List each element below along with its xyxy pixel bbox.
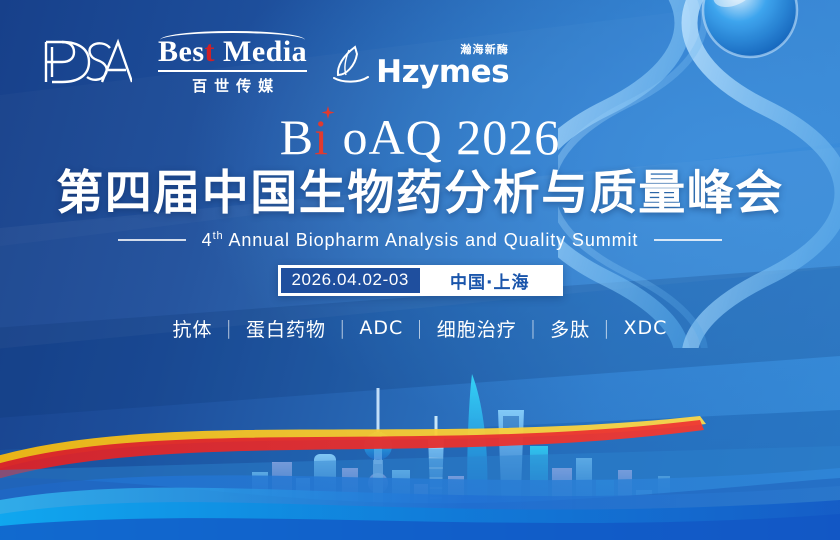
sponsor-logo-row: Best Media 百世传媒 瀚海新酶 Hzymes <box>40 32 509 96</box>
topic-tag[interactable]: 蛋白药物 <box>246 315 326 342</box>
topic-tag[interactable]: 细胞治疗 <box>437 315 517 342</box>
best-media-wordmark: Best Media <box>158 32 307 67</box>
topic-separator: | <box>603 317 610 339</box>
topic-separator: | <box>226 317 233 339</box>
sponsor-logo-hzymes[interactable]: 瀚海新酶 Hzymes <box>333 41 509 87</box>
conference-banner: Best Media 百世传媒 瀚海新酶 Hzymes Bi oAQ 2026 <box>0 0 840 540</box>
hzymes-wordmark: Hzymes <box>376 58 509 87</box>
rule-right <box>654 239 722 241</box>
subtitle-english: 4th Annual Biopharm Analysis and Quality… <box>202 230 639 251</box>
shanghai-skyline-icon <box>0 350 840 540</box>
brand-rest: oAQ 2026 <box>343 109 561 165</box>
topic-separator: | <box>530 317 537 339</box>
page-title-chinese: 第四届中国生物药分析与质量峰会 <box>0 168 840 221</box>
ordinal-number: 4 <box>202 230 213 250</box>
topic-separator: | <box>339 317 346 339</box>
topic-tag[interactable]: 抗体 <box>173 315 213 342</box>
event-date: 2026.04.02-03 <box>281 268 420 293</box>
sponsor-logo-best-media[interactable]: Best Media 百世传媒 <box>158 32 307 96</box>
divider <box>158 70 307 72</box>
brand-title: Bi oAQ 2026 <box>280 112 560 162</box>
bottom-scenery <box>0 350 840 540</box>
sparkle-icon <box>322 106 335 119</box>
topic-tag[interactable]: 多肽 <box>550 315 590 342</box>
brand-accent-i: i <box>314 109 342 165</box>
main-title-block: Bi oAQ 2026 第四届中国生物药分析与质量峰会 4th Annual B… <box>0 112 840 342</box>
topic-tag[interactable]: ADC <box>359 317 403 339</box>
date-location-badge: 2026.04.02-03 中国·上海 <box>278 265 563 296</box>
pdsa-monogram-icon <box>40 36 132 88</box>
brand-b: B <box>280 109 314 165</box>
sponsor-logo-pdsa[interactable] <box>40 36 132 93</box>
topic-tag-row: 抗体 | 蛋白药物 | ADC | 细胞治疗 | 多肽 | XDC <box>0 315 840 342</box>
arc-decoration-icon <box>160 31 305 40</box>
ordinal-suffix: th <box>213 230 224 242</box>
topic-separator: | <box>416 317 423 339</box>
sail-leaf-icon <box>333 44 369 84</box>
event-location: 中国·上海 <box>420 268 560 293</box>
rule-left <box>118 239 186 241</box>
subtitle-rest: Annual Biopharm Analysis and Quality Sum… <box>224 230 639 250</box>
topic-tag[interactable]: XDC <box>624 317 668 339</box>
best-media-chinese: 百世传媒 <box>185 75 280 96</box>
subtitle-row: 4th Annual Biopharm Analysis and Quality… <box>0 230 840 251</box>
